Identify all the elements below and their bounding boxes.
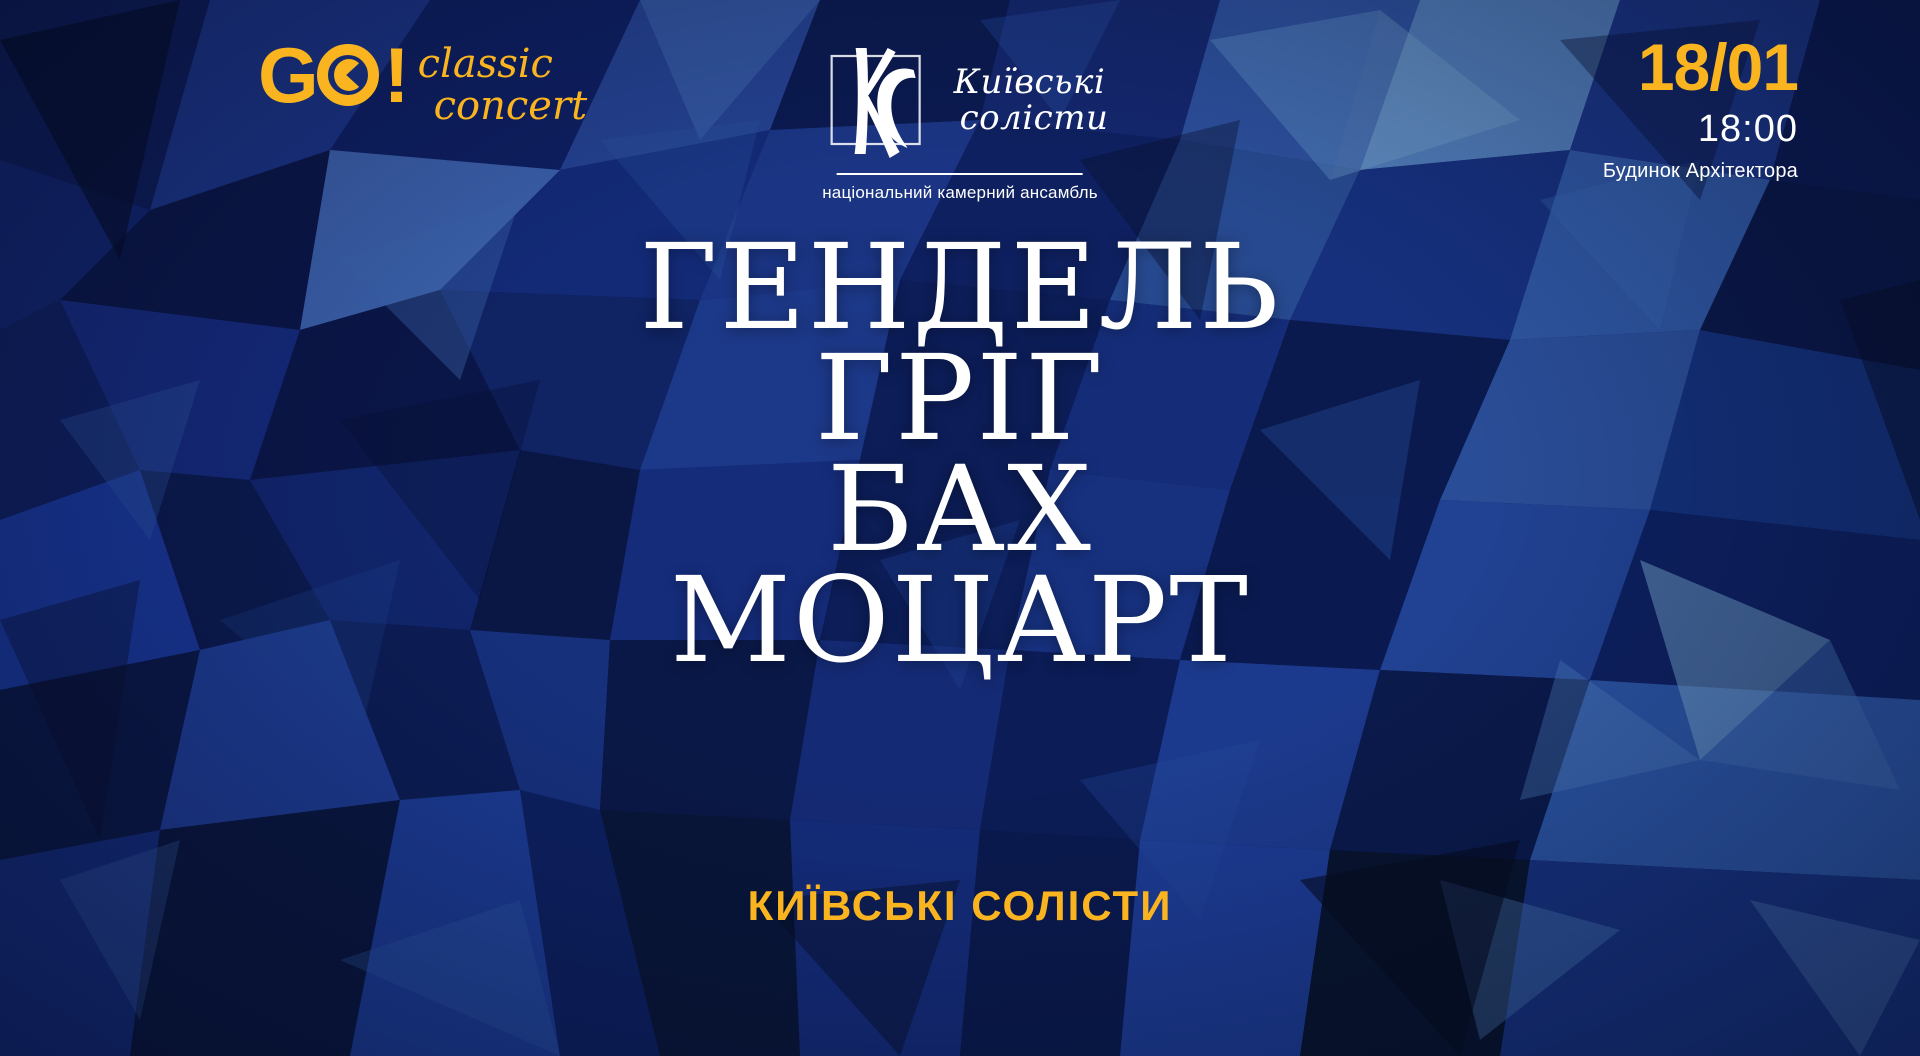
composer-name: ГРІГ (0, 343, 1920, 454)
event-time: 18:00 (1603, 108, 1798, 152)
event-date: 18/01 (1603, 34, 1798, 100)
go-letter-g: G (258, 38, 317, 112)
performer-name: КИЇВСЬКІ СОЛІСТИ (0, 882, 1920, 930)
ensemble-name-script: Київські солісти (950, 64, 1109, 136)
ensemble-subtitle: національний камерний ансамбль (822, 183, 1098, 203)
tagline-line-1: classic (418, 43, 588, 85)
aperture-ring (317, 44, 379, 106)
tagline-line-2: concert (418, 85, 588, 127)
go-exclamation: ! (384, 38, 408, 112)
ensemble-name-line-1: Київські (954, 64, 1106, 100)
composer-name: БАХ (0, 454, 1920, 565)
logo-divider (837, 173, 1083, 175)
composer-name: ГЕНДЕЛЬ (0, 232, 1920, 343)
go-wordmark: G ! (258, 38, 408, 112)
kyiv-soloists-logo[interactable]: Київські солісти національний камерний а… (812, 36, 1109, 203)
event-venue: Будинок Архітектора (1603, 160, 1798, 183)
ensemble-name-line-2: солісти (954, 100, 1109, 136)
ks-monogram-icon (812, 36, 940, 164)
composer-name-list: ГЕНДЕЛЬ ГРІГ БАХ МОЦАРТ (0, 232, 1920, 676)
aperture-o-icon (317, 44, 379, 106)
go-classic-concert-logo[interactable]: G ! classic concert (258, 38, 587, 127)
go-script-tagline: classic concert (418, 38, 588, 127)
concert-poster: G ! classic concert (0, 0, 1920, 1056)
composer-name: МОЦАРТ (0, 565, 1920, 676)
logo-top-row: Київські солісти (812, 36, 1109, 164)
event-details: 18/01 18:00 Будинок Архітектора (1603, 34, 1798, 183)
